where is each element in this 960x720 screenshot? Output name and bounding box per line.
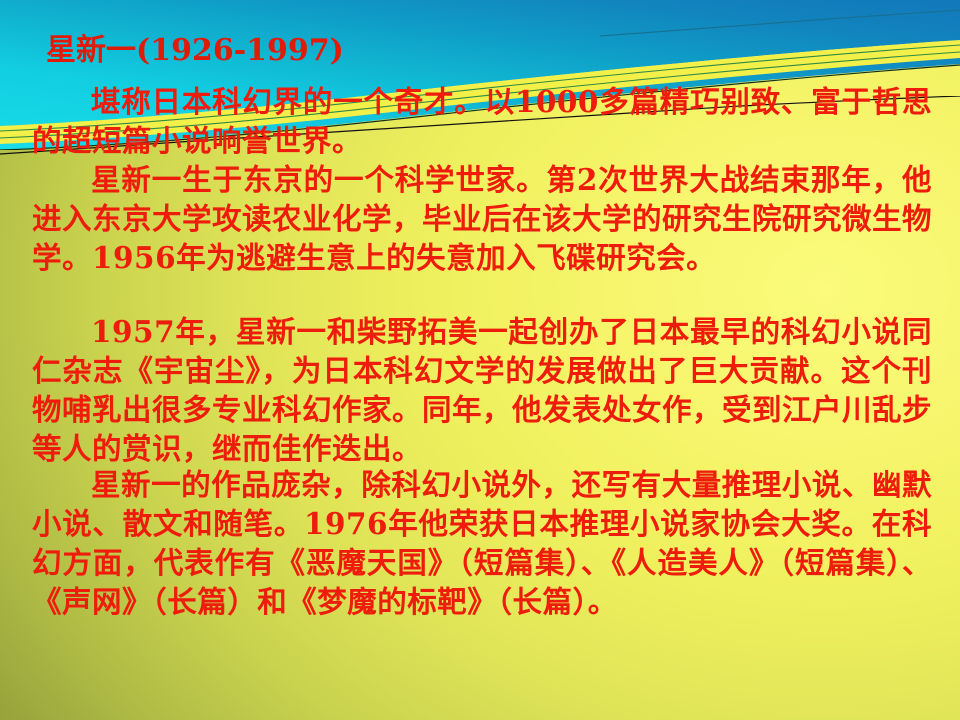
teal-wedge-shape (520, 0, 960, 44)
page-title: 星新一(1926-1997) (46, 36, 344, 66)
paragraph-works: 星新一的作品庞杂，除科幻小说外，还写有大量推理小说、幽默小说、散文和随笔。197… (32, 465, 932, 621)
paragraph-magazine: 1957年，星新一和柴野拓美一起创办了日本最早的科幻小说同仁杂志《宇宙尘》，为日… (32, 312, 932, 468)
paragraph-intro: 堪称日本科幻界的一个奇才。以1000多篇精巧别致、富于哲思的超短篇小说响誉世界。 (32, 82, 932, 160)
paragraph-biography: 星新一生于东京的一个科学世家。第2次世界大战结束那年，他进入东京大学攻读农业化学… (32, 160, 932, 277)
presentation-slide: 星新一(1926-1997) 堪称日本科幻界的一个奇才。以1000多篇精巧别致、… (0, 0, 960, 720)
hairline-wedge (600, 10, 960, 36)
